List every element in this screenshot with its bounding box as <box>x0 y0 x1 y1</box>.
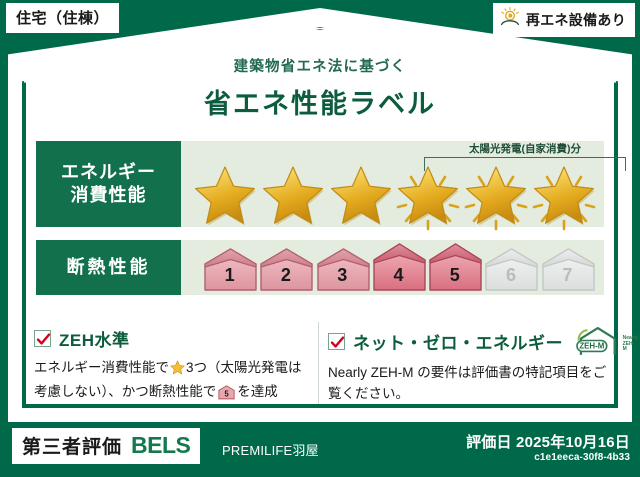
insulation-performance-row: 断熱性能 1 <box>36 240 604 295</box>
insulation-level-number: 6 <box>506 265 516 292</box>
renewable-energy-label: 再エネ設備あり <box>526 10 626 30</box>
insulation-level-number: 4 <box>393 265 403 292</box>
insulation-level-6: 6 <box>484 247 537 292</box>
star-rating <box>191 163 598 225</box>
zeh-divider <box>318 322 319 404</box>
zeh-standard-title: ZEH水準 <box>59 326 130 351</box>
zeh-m-logo: ZEH-M Nearly ZEH-M <box>575 326 638 356</box>
star-icon <box>259 163 327 225</box>
zeh-standard-body-part1: エネルギー消費性能で <box>34 360 169 375</box>
title-main: 省エネ性能ラベル <box>0 82 640 121</box>
insulation-level-3: 3 <box>316 247 369 292</box>
insulation-level-number: 7 <box>562 265 572 292</box>
insulation-level-number: 1 <box>225 265 235 292</box>
insulation-performance-body: 1 2 <box>181 240 604 295</box>
zeh-standard-block: ZEH水準 エネルギー消費性能で3つ（太陽光発電は考慮しない）、かつ断熱性能で5… <box>34 326 306 407</box>
energy-performance-row: エネルギー 消費性能 太陽光発電(自家消費)分 <box>36 141 604 227</box>
building-type-label: 住宅（住棟） <box>16 10 109 27</box>
insulation-level-number: 5 <box>450 265 460 292</box>
net-zero-energy-checkbox[interactable] <box>328 333 345 350</box>
insulation-level-number: 3 <box>337 265 347 292</box>
star-icon-solar <box>394 163 462 225</box>
star-icon-solar <box>530 163 598 225</box>
star-icon <box>191 163 259 225</box>
net-zero-energy-block: ネット・ゼロ・エネルギー ZEH-M Nearly ZEH-M Nearly Z… <box>328 326 610 405</box>
sun-icon <box>499 6 521 33</box>
solar-bracket <box>424 157 626 171</box>
evaluation-id: c1e1eeca-30f8-4b33 <box>534 452 630 463</box>
insulation-level-scale: 1 2 <box>203 242 594 292</box>
energy-label-line1: エネルギー <box>61 161 156 184</box>
solar-bracket-label: 太陽光発電(自家消費)分 <box>414 141 636 156</box>
title-subtitle: 建築物省エネ法に基づく <box>0 55 640 76</box>
footer: 第三者評価 BELS PREMILIFE羽屋 評価日 2025年10月16日 c… <box>0 422 640 477</box>
zeh-standard-checkbox[interactable] <box>34 330 51 347</box>
insulation-level-1: 1 <box>203 247 256 292</box>
zeh-m-nearly-text: Nearly ZEH-M <box>623 336 639 356</box>
net-zero-energy-body: Nearly ZEH-M の要件は評価書の特記項目をご覧ください。 <box>328 363 610 405</box>
zeh-m-nearly-line2: ZEH-M <box>623 341 635 353</box>
svg-text:ZEH-M: ZEH-M <box>579 342 604 351</box>
inline-star-icon <box>170 360 185 382</box>
zeh-standard-body-part3: を達成 <box>237 384 278 399</box>
building-type-chip: 住宅（住棟） <box>6 3 119 33</box>
property-name: PREMILIFE羽屋 <box>222 440 319 459</box>
renewable-energy-chip: 再エネ設備あり <box>493 3 635 37</box>
insulation-level-4: 4 <box>372 242 425 292</box>
star-icon <box>327 163 395 225</box>
svg-text:5: 5 <box>225 389 230 398</box>
zeh-standard-body: エネルギー消費性能で3つ（太陽光発電は考慮しない）、かつ断熱性能で5を達成 <box>34 358 306 407</box>
bels-jp-label: 第三者評価 <box>22 432 122 459</box>
energy-performance-body: 太陽光発電(自家消費)分 <box>181 141 604 227</box>
zeh-standard-header: ZEH水準 <box>34 326 306 351</box>
insulation-level-5: 5 <box>428 242 481 292</box>
energy-label-line2: 消費性能 <box>71 184 147 207</box>
bels-en-label: BELS <box>131 432 190 459</box>
net-zero-energy-header: ネット・ゼロ・エネルギー ZEH-M Nearly ZEH-M <box>328 326 610 356</box>
net-zero-energy-title: ネット・ゼロ・エネルギー <box>353 329 563 354</box>
insulation-performance-label-box: 断熱性能 <box>36 240 181 295</box>
energy-performance-label: 住宅（住棟） 再エネ設備あり 建築物省エネ法に基づく 省エネ性能ラベル <box>0 0 640 477</box>
evaluation-date: 評価日 2025年10月16日 <box>466 431 630 452</box>
insulation-level-number: 2 <box>281 265 291 292</box>
bels-badge: 第三者評価 BELS <box>12 428 200 464</box>
star-icon-solar <box>462 163 530 225</box>
inline-house-icon: 5 <box>218 385 235 407</box>
insulation-label: 断熱性能 <box>67 256 151 279</box>
insulation-level-7: 7 <box>541 247 594 292</box>
title-block: 建築物省エネ法に基づく 省エネ性能ラベル <box>0 55 640 121</box>
insulation-level-2: 2 <box>259 247 312 292</box>
energy-performance-label-box: エネルギー 消費性能 <box>36 141 181 227</box>
